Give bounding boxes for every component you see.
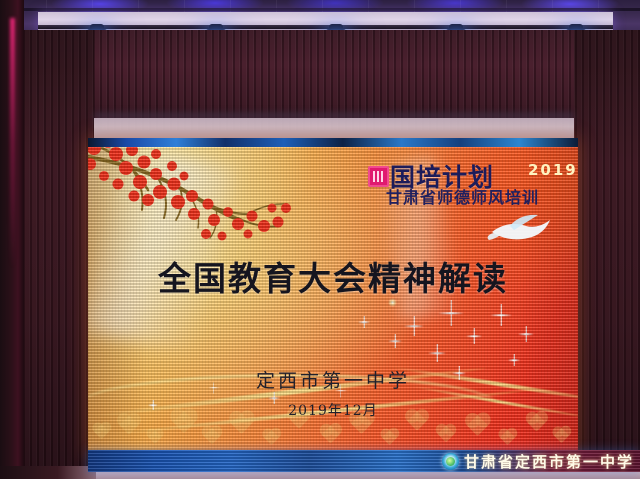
screen-top-led-strip bbox=[88, 138, 578, 147]
sparkle-star bbox=[358, 316, 370, 328]
banner-text: 甘肃省定西市第一中学 bbox=[464, 451, 634, 472]
sparkle-star bbox=[388, 334, 402, 348]
school-emblem-icon bbox=[442, 453, 459, 470]
sparkle-star bbox=[428, 344, 446, 362]
sparkle-star bbox=[508, 354, 520, 366]
page-title: 全国教育大会精神解读 bbox=[88, 252, 578, 300]
sparkle-star bbox=[466, 328, 482, 344]
pink-light-edge bbox=[10, 18, 15, 268]
guopei-subtitle: 甘肃省师德师风培训 bbox=[386, 184, 539, 208]
wall-above-screen bbox=[94, 118, 574, 140]
sparkle-star bbox=[490, 304, 512, 326]
guopei-logo: 国培计划 2019 甘肃省师德师风培训 bbox=[368, 160, 578, 210]
organizer-name: 定西市第一中学 bbox=[88, 366, 578, 393]
banner-content: 甘肃省定西市第一中学 bbox=[442, 451, 634, 472]
guopei-year: 2019 bbox=[528, 161, 578, 179]
dove-icon bbox=[486, 212, 556, 246]
ceiling-beam bbox=[0, 8, 640, 11]
bottom-led-banner[interactable]: 甘肃省定西市第一中学 bbox=[88, 450, 640, 472]
sparkle-star bbox=[404, 316, 424, 336]
sparkle-star bbox=[518, 326, 534, 342]
event-date: 2019年12月 bbox=[88, 400, 578, 420]
sparkle-star bbox=[438, 300, 464, 326]
plum-blossom-branch-icon bbox=[88, 138, 318, 268]
led-screen[interactable]: 国培计划 2019 甘肃省师德师风培训 全国教育大会精神解读 定西市第一中学 2… bbox=[88, 138, 578, 456]
auditorium-stage-scene: 国培计划 2019 甘肃省师德师风培训 全国教育大会精神解读 定西市第一中学 2… bbox=[0, 0, 640, 479]
stage-curtain-left bbox=[22, 30, 94, 479]
stage-curtain-right bbox=[574, 30, 640, 479]
stage-floor-left-shadow bbox=[0, 466, 96, 479]
